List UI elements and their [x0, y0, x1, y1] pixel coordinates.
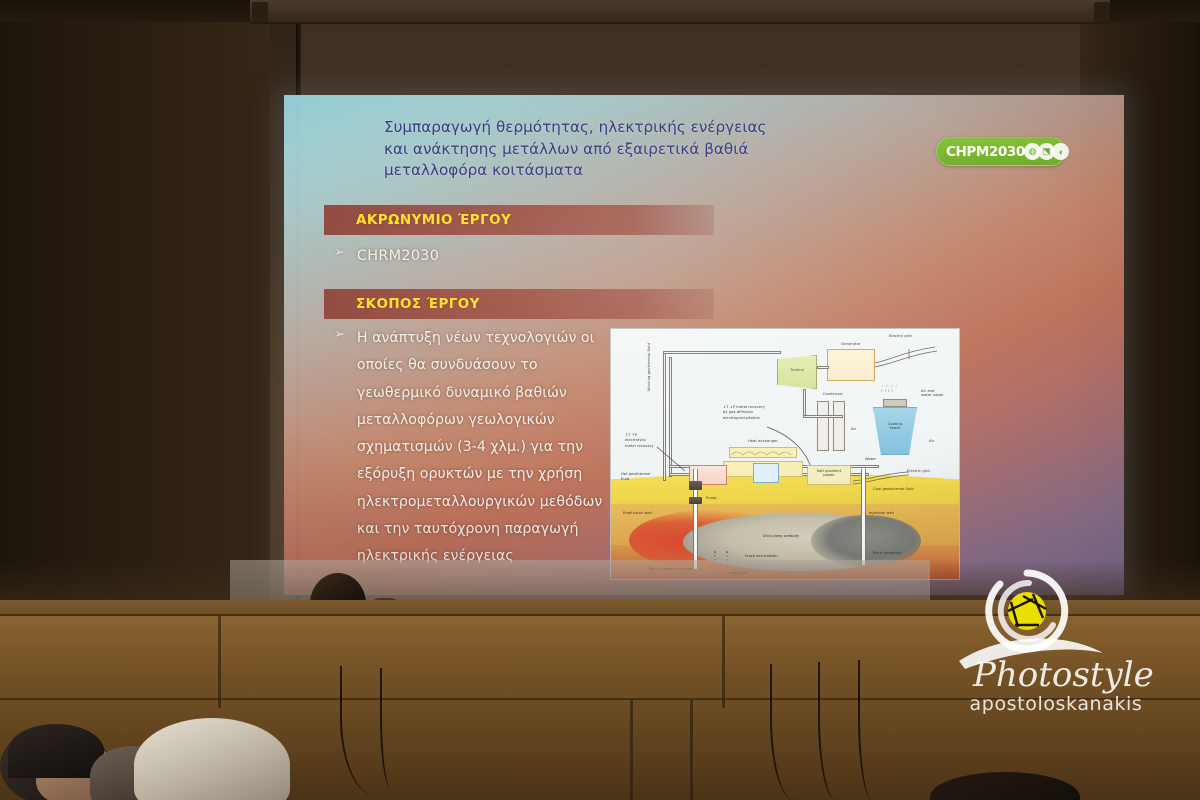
air-left-label: Air [851, 427, 856, 431]
heat-exchanger-label: Heat exchanger [733, 439, 793, 443]
logo-text: CHPM2030 [946, 144, 1025, 160]
air-water-vapor-label: Air and water vapor [921, 389, 944, 398]
logo-dot-leaf-icon: ◖ [1052, 143, 1069, 160]
scope-line-6: εξόρυξη ορυκτών με την χρήση [357, 466, 582, 482]
photo-scene: Συμπαραγωγή θερμότητας, ηλεκτρικής ενέργ… [0, 0, 1200, 800]
scope-line-2: οποίες θα συνδυάσουν το [357, 357, 538, 373]
bullet-scope-text: Η ανάπτυξη νέων τεχνολογιών οι οποίες θα… [357, 325, 602, 570]
section-header-bar-acronym: ΑΚΡΩΝΥΜΙΟ ΈΡΓΟΥ [324, 205, 714, 235]
condenser-label: Condenser [811, 392, 855, 396]
air-right-label: Air [929, 439, 934, 443]
section-header-label-scope: ΣΚΟΠΟΣ ΈΡΓΟΥ [356, 296, 480, 312]
wellhead-collar [689, 497, 702, 504]
scope-line-7: ηλεκτρομεταλλουργικών μεθόδων [357, 494, 602, 510]
audience-hair-1 [8, 724, 104, 778]
scope-line-5: σχηματισμών (3-4 χλμ.) για την [357, 439, 583, 455]
pipe-turbine-generator [817, 366, 829, 369]
front-panel-divider-2 [690, 700, 693, 800]
injection-well-label: Injection well [869, 511, 894, 515]
section-header-label-acronym: ΑΚΡΩΝΥΜΙΟ ΈΡΓΟΥ [356, 212, 511, 228]
slide-title: Συμπαραγωγή θερμότητας, ηλεκτρικής ενέργ… [384, 117, 854, 182]
side-wall-left [0, 0, 270, 620]
rock-formation-label: Rock formation [873, 551, 902, 555]
slide-title-line-2: και ανάκτησης μετάλλων από εξαιρετικά βα… [384, 139, 854, 161]
salt-gradient-label: Salt gradient power [808, 469, 850, 478]
pipe-top-run [663, 351, 781, 354]
ultra-deep-orebody-label: Ultra-deep orebody [741, 534, 821, 538]
logo-dot-group: ◍ ⬔ ◖ [1027, 143, 1069, 160]
pump-shape [689, 481, 702, 490]
presentation-slide: Συμπαραγωγή θερμότητας, ηλεκτρικής ενέργ… [284, 95, 1124, 595]
chpm2030-logo: CHPM2030 ◍ ⬔ ◖ [936, 137, 1066, 166]
heat-exchanger-coil-icon [729, 449, 797, 457]
cooling-tower-label: Cooling tower [877, 422, 913, 431]
turbine-label: Turbine [779, 368, 815, 372]
condenser-tube-right [833, 401, 845, 451]
desk-panel-divider-1 [218, 616, 221, 708]
cooling-tower-top-deck [883, 399, 907, 407]
slide-title-line-1: Συμπαραγωγή θερμότητας, ηλεκτρικής ενέργ… [384, 117, 854, 139]
desk-panel-divider-2 [722, 616, 725, 708]
fractured-bottom-label: Fractured bottom [745, 554, 778, 558]
bullet-acronym: ➢ CHRM2030 [334, 243, 439, 271]
bullet-scope: ➢ Η ανάπτυξη νέων τεχνολογιών οι οποίες … [334, 325, 624, 570]
cooling-tower-shape [873, 407, 917, 455]
screen-roller-housing [250, 0, 1110, 24]
pipe-condenser-feed [803, 415, 843, 418]
desk-edge-seam [0, 614, 1200, 616]
electric-grid-top-label: Electric grid [889, 334, 912, 338]
blue-process-box [753, 463, 779, 483]
bullet-acronym-text: CHRM2030 [357, 243, 439, 271]
production-well-label: Production well [623, 511, 652, 515]
roller-cap-left [252, 2, 268, 22]
electrolytic-recovery-label: ↑T ↑P electrolytic metal recovery [625, 433, 654, 449]
gas-diffusion-recovery-label: ↓T ↓P metal recovery by gas-diffusion el… [723, 405, 765, 421]
power-line-top-icon [873, 341, 943, 371]
chpm-process-diagram: Turbine Generator Electric grid Condense… [610, 328, 960, 580]
generator-label: Generator [827, 342, 875, 346]
bullet-arrow-icon-scope: ➢ [334, 325, 345, 345]
generator-shape [827, 349, 875, 381]
roller-cap-right [1094, 2, 1110, 22]
front-panel-divider-1 [630, 700, 633, 800]
electrolytic-pointer-line [655, 445, 689, 475]
mic-cable-5 [380, 668, 398, 788]
section-header-bar-scope: ΣΚΟΠΟΣ ΈΡΓΟΥ [324, 289, 714, 319]
injection-well-shaft [861, 469, 866, 565]
pump-label: Pump [706, 496, 717, 500]
pipe-turbine-condenser [803, 389, 806, 417]
vapor-marks-icon: ⌃⌃⌃⌃⌇⌇⌇⌇ [881, 385, 899, 394]
scope-line-4: μεταλλοφόρων γεωλογικών [357, 412, 555, 428]
scope-line-8: και την ταυτόχρονη παραγωγή [357, 521, 579, 537]
scope-line-3: γεωθερμικό δυναμικό βαθιών [357, 385, 567, 401]
speaker-desk-front [0, 616, 1200, 706]
cool-geothermal-fluid-label: Cool geothermal fluid [873, 487, 914, 491]
water-label: Water [865, 457, 876, 461]
working-fluid-label: Working geothermal fluid [647, 343, 651, 391]
slide-title-line-3: μεταλλοφόρα κοιτάσματα [384, 160, 854, 182]
scope-line-1: Η ανάπτυξη νέων τεχνολογιών οι [357, 330, 595, 346]
hot-geothermal-fluid-label: Hot geothermal fluid [621, 472, 651, 482]
panel-seam [0, 698, 1200, 700]
bullet-arrow-icon: ➢ [334, 243, 345, 263]
